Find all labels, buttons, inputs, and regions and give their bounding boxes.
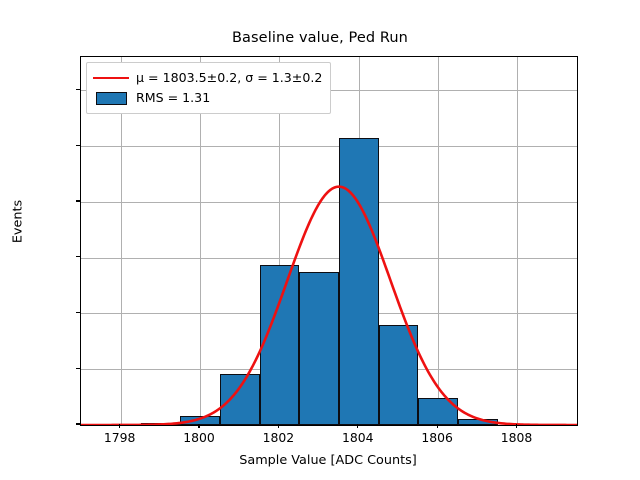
x-axis-tick-mark [357, 424, 358, 428]
gridline-horizontal [81, 146, 577, 147]
histogram-bar [458, 419, 498, 425]
x-axis-label: Sample Value [ADC Counts] [80, 453, 576, 468]
legend-item-rms: RMS = 1.31 [93, 88, 322, 108]
histogram-bar [141, 423, 181, 425]
y-axis-tick-mark [76, 200, 80, 201]
x-axis-tick-label: 1804 [318, 430, 398, 445]
gridline-horizontal [81, 258, 577, 259]
y-axis-label: Events [11, 142, 26, 302]
y-axis-tick-mark [76, 312, 80, 313]
histogram-bar [299, 272, 339, 425]
x-axis-tick-label: 1802 [238, 430, 318, 445]
histogram-bar [260, 265, 300, 425]
x-axis-tick-mark [119, 424, 120, 428]
x-axis-tick-label: 1808 [476, 430, 556, 445]
x-axis-tick-label: 1806 [397, 430, 477, 445]
histogram-bar [418, 398, 458, 425]
legend-item-fit: μ = 1803.5±0.2, σ = 1.3±0.2 [93, 68, 322, 88]
legend-item-fit-label: μ = 1803.5±0.2, σ = 1.3±0.2 [136, 72, 322, 85]
histogram-bar [339, 138, 379, 425]
histogram-bar [220, 374, 260, 425]
legend-line-swatch-icon [93, 71, 129, 85]
histogram-bar [180, 416, 220, 425]
page-title: Baseline value, Ped Run [0, 30, 640, 46]
x-axis-tick-mark [516, 424, 517, 428]
x-axis-tick-mark [278, 424, 279, 428]
y-axis-tick-mark [76, 145, 80, 146]
x-axis-tick-mark [198, 424, 199, 428]
x-axis-tick-mark [437, 424, 438, 428]
legend-patch-swatch-icon [96, 92, 127, 105]
y-axis-tick-mark [76, 89, 80, 90]
figure-canvas: Baseline value, Ped Run 0200004000060000… [0, 0, 640, 480]
legend-item-rms-label: RMS = 1.31 [136, 92, 210, 105]
y-axis-tick-mark [76, 368, 80, 369]
gridline-vertical [438, 57, 439, 425]
gridline-vertical [517, 57, 518, 425]
gridline-horizontal [81, 202, 577, 203]
y-axis-tick-mark [76, 256, 80, 257]
x-axis-tick-label: 1800 [159, 430, 239, 445]
x-axis-tick-label: 1798 [80, 430, 160, 445]
histogram-bar [379, 325, 419, 425]
y-axis-tick-mark [76, 423, 80, 424]
legend: μ = 1803.5±0.2, σ = 1.3±0.2 RMS = 1.31 [86, 62, 331, 114]
